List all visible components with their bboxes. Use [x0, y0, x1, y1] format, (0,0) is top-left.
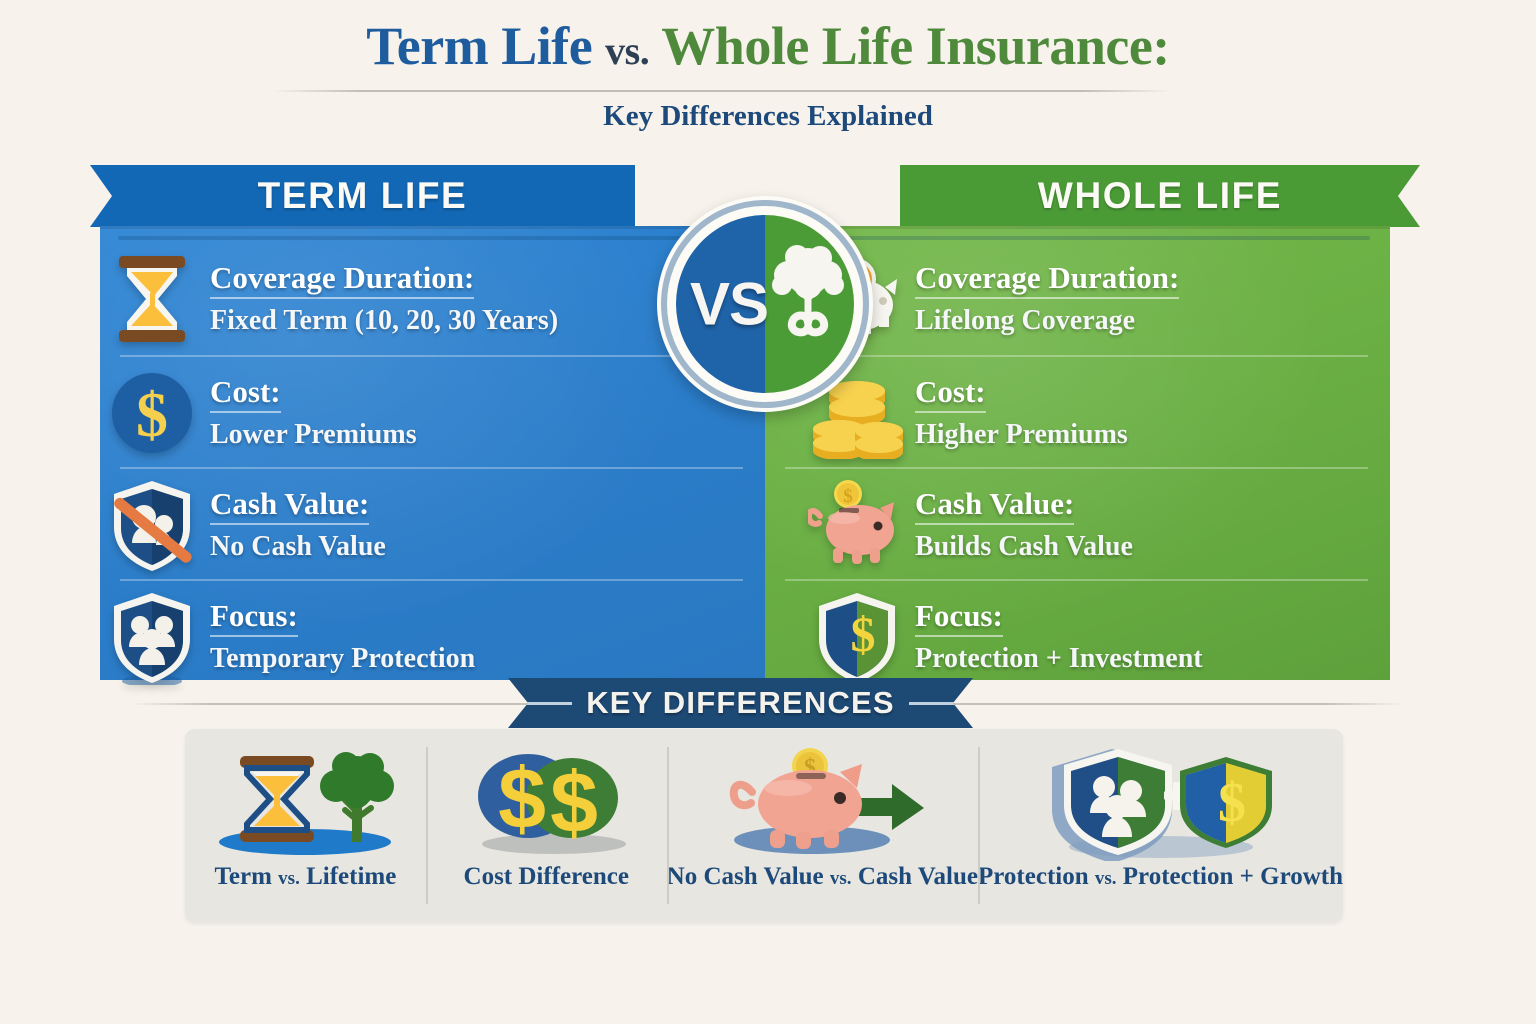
key-diff-label-4-vs: vs. — [1095, 868, 1117, 889]
term-label-coverage-duration: Coverage Duration: — [210, 262, 474, 300]
term-value-coverage-duration: Fixed Term (10, 20, 30 Years) — [210, 306, 558, 335]
ribbon-dash-right — [909, 702, 961, 705]
whole-row-cost: Cost: Higher Premiums — [765, 356, 1390, 469]
whole-life-ribbon-label: WHOLE LIFE — [1038, 175, 1282, 217]
title-term-life: Term Life — [366, 16, 592, 76]
svg-text:$: $ — [550, 755, 598, 851]
term-value-focus: Temporary Protection — [210, 644, 475, 673]
whole-value-focus: Protection + Investment — [915, 644, 1203, 673]
key-diff-label-2: Cost Difference — [464, 863, 629, 891]
key-diff-label-4-a: Protection — [978, 863, 1089, 890]
infographic-canvas: Term Life vs. Whole Life Insurance: Key … — [0, 0, 1536, 1024]
whole-row-cash-value: $ Cash Value: Builds Cash Value — [765, 468, 1390, 581]
hourglass-icon — [100, 247, 204, 351]
svg-text:$: $ — [843, 486, 853, 507]
shield-dollar-icon: $ — [805, 585, 909, 689]
whole-label-cost: Cost: — [915, 376, 986, 414]
page-subtitle: Key Differences Explained — [0, 100, 1536, 133]
tree-infinity-icon — [768, 241, 848, 361]
key-diff-label-3-a: No Cash Value — [667, 863, 824, 890]
page-title: Term Life vs. Whole Life Insurance: — [0, 18, 1536, 75]
key-diff-label-1-vs: vs. — [278, 868, 300, 889]
term-value-cash-value: No Cash Value — [210, 532, 386, 561]
title-vs: vs. — [605, 28, 649, 73]
term-label-cash-value: Cash Value: — [210, 488, 369, 526]
key-diff-label-1-a: Term — [215, 863, 272, 890]
svg-text:$: $ — [851, 606, 876, 662]
key-diff-label-3-b: Cash Value — [858, 863, 978, 890]
whole-row-focus: $ Focus: Protection + Investment — [765, 580, 1390, 693]
key-diff-label-1-b: Lifetime — [306, 863, 396, 890]
whole-label-cash-value: Cash Value: — [915, 488, 1074, 526]
whole-value-cash-value: Builds Cash Value — [915, 532, 1133, 561]
key-diff-item-no-cash-vs-cash: $ No Cash Value vs. Cash Value — [667, 729, 978, 922]
key-diff-label-4-b: Protection + Growth — [1123, 863, 1343, 890]
key-diff-item-cost-difference: $ $ Cost Difference — [426, 729, 667, 922]
svg-text:$: $ — [136, 379, 168, 450]
vs-badge-label: VS — [690, 270, 768, 339]
whole-value-coverage-duration: Lifelong Coverage — [915, 306, 1179, 335]
title-divider — [272, 90, 1172, 92]
hourglass-tree-icon — [200, 743, 410, 861]
term-label-cost: Cost: — [210, 376, 281, 414]
term-row-cost: $ Cost: Lower Premiums — [100, 356, 765, 469]
term-row-focus: Focus: Temporary Protection — [100, 580, 765, 693]
key-diff-label-4: Protection vs. Protection + Growth — [978, 863, 1343, 891]
key-differences-ribbon: KEY DIFFERENCES — [508, 678, 973, 728]
term-row-cash-value: Cash Value: No Cash Value — [100, 468, 765, 581]
whole-value-cost: Higher Premiums — [915, 420, 1128, 449]
svg-text:$: $ — [1218, 772, 1246, 834]
term-life-ribbon: TERM LIFE — [90, 165, 635, 227]
key-diff-item-protection-vs-growth: $ Protection vs. Protection + Growth — [978, 729, 1343, 922]
title-block: Term Life vs. Whole Life Insurance: — [0, 18, 1536, 75]
key-diff-label-1: Term vs. Lifetime — [215, 863, 397, 891]
term-life-ribbon-label: TERM LIFE — [258, 175, 468, 217]
whole-label-focus: Focus: — [915, 600, 1003, 638]
vs-badge: VS — [657, 196, 873, 412]
key-differences-label: KEY DIFFERENCES — [586, 685, 895, 721]
title-whole-life: Whole Life Insurance: — [661, 16, 1170, 76]
key-diff-label-3-vs: vs. — [830, 868, 852, 889]
dollar-coin-icon: $ — [100, 361, 204, 465]
key-differences-card: Term vs. Lifetime $ $ Cost Difference — [185, 729, 1343, 922]
term-value-cost: Lower Premiums — [210, 420, 417, 449]
key-diff-label-3: No Cash Value vs. Cash Value — [667, 863, 978, 891]
ribbon-dash-left — [520, 702, 572, 705]
two-shields-plus-icon: $ — [1036, 743, 1286, 861]
shield-no-cash-icon — [100, 473, 204, 577]
key-diff-item-term-vs-lifetime: Term vs. Lifetime — [185, 729, 426, 922]
term-label-focus: Focus: — [210, 600, 298, 638]
vs-badge-disc: VS — [676, 215, 854, 393]
whole-life-ribbon: WHOLE LIFE — [900, 165, 1420, 227]
svg-text:$: $ — [498, 751, 546, 847]
key-diff-label-2-a: Cost Difference — [464, 863, 629, 890]
shield-family-icon — [100, 585, 204, 689]
whole-label-coverage-duration: Coverage Duration: — [915, 262, 1179, 300]
double-dollar-icon: $ $ — [446, 743, 646, 861]
piggy-bank-pink-icon: $ — [805, 473, 909, 577]
piggy-arrow-icon: $ — [712, 743, 932, 861]
vs-badge-ring: VS — [661, 200, 869, 408]
